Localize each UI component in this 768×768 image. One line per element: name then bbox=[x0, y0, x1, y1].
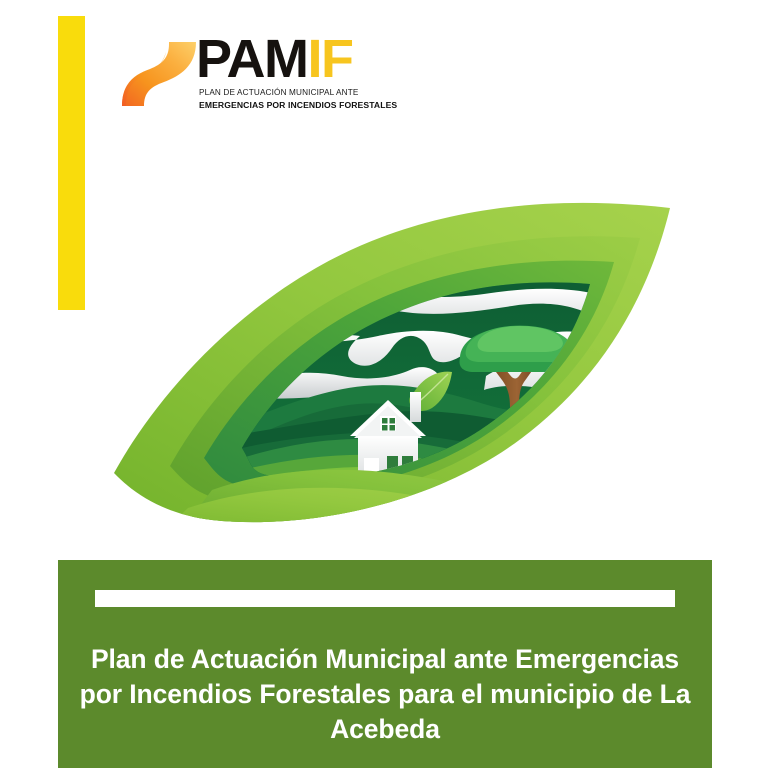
pamif-logo: PAMIF PLAN DE ACTUACIÓN MUNICIPAL ANTE E… bbox=[106, 30, 396, 122]
wordmark-pam: PAM bbox=[196, 29, 308, 89]
logo-subtitle-line1: PLAN DE ACTUACIÓN MUNICIPAL ANTE bbox=[199, 88, 358, 97]
title-banner: Plan de Actuación Municipal ante Emergen… bbox=[58, 560, 712, 768]
logo-subtitle-line2: EMERGENCIAS POR INCENDIOS FORESTALES bbox=[199, 100, 397, 110]
papercut-leaf-illustration bbox=[92, 190, 692, 542]
house-chimney bbox=[410, 392, 421, 422]
flame-swoosh-icon bbox=[106, 36, 202, 108]
wordmark-if: IF bbox=[308, 29, 353, 89]
document-cover-page: PAMIF PLAN DE ACTUACIÓN MUNICIPAL ANTE E… bbox=[0, 0, 768, 768]
document-title: Plan de Actuación Municipal ante Emergen… bbox=[76, 642, 694, 747]
yellow-accent-bar bbox=[58, 16, 85, 310]
pamif-wordmark: PAMIF bbox=[196, 30, 353, 88]
banner-white-rule bbox=[95, 590, 675, 607]
